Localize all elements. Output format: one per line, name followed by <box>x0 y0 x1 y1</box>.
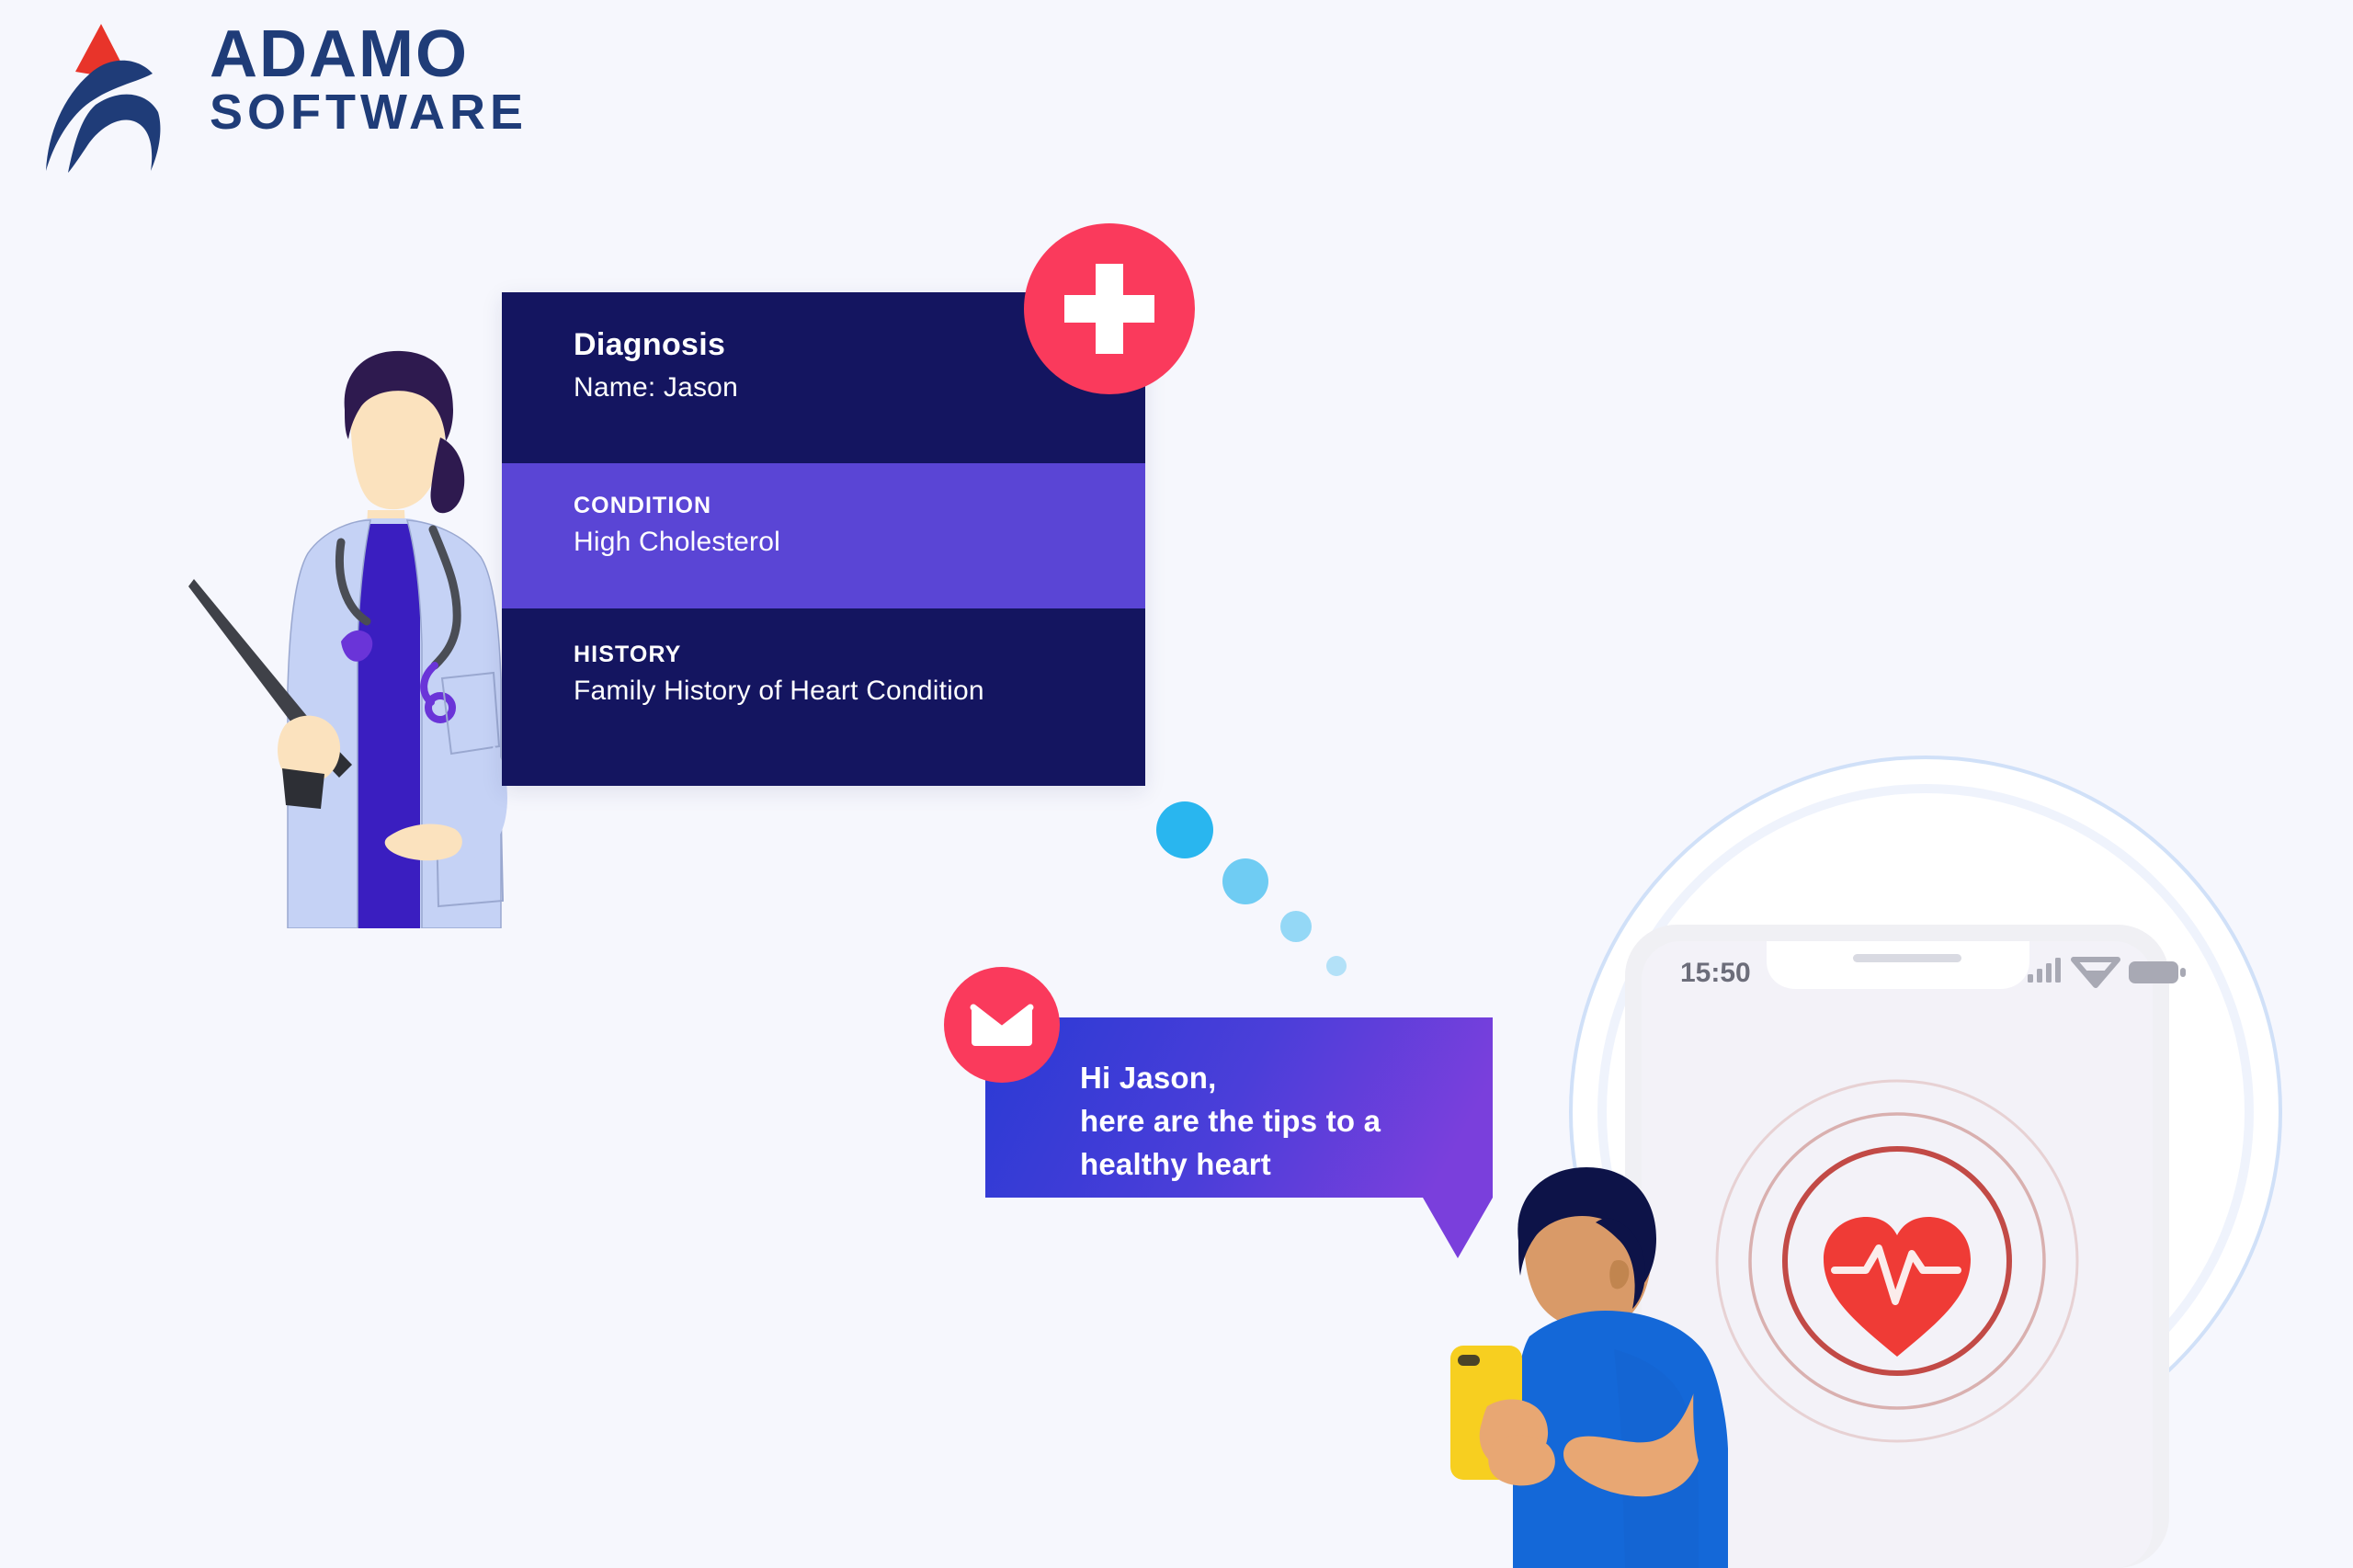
trail-dot <box>1326 956 1347 976</box>
battery-icon <box>2129 961 2186 983</box>
condition-label: CONDITION <box>574 493 1145 519</box>
condition-value: High Cholesterol <box>574 527 1145 558</box>
trail-dot <box>1222 858 1268 904</box>
message-badge <box>944 967 1060 1083</box>
pointer-handle-end <box>282 768 324 809</box>
medical-cross-badge <box>1024 223 1195 394</box>
illustration-canvas: ADAMO SOFTWARE <box>0 0 2353 1568</box>
adamo-arrow-logo-icon <box>35 17 182 173</box>
diagnosis-history-row: HISTORY Family History of Heart Conditio… <box>502 608 1145 786</box>
trail-dot <box>1156 801 1213 858</box>
history-label: HISTORY <box>574 642 1145 668</box>
phone-camera <box>1458 1355 1480 1366</box>
logo-wordmark: ADAMO SOFTWARE <box>210 24 528 136</box>
phone-status-time: 15:50 <box>1680 958 1751 988</box>
medical-cross-icon <box>1024 223 1195 394</box>
phone-speaker-grille <box>1853 954 1961 962</box>
logo-name-primary: ADAMO <box>210 24 528 85</box>
trail-dot <box>1280 911 1312 942</box>
history-value: Family History of Heart Condition <box>574 676 1145 707</box>
adamo-software-logo: ADAMO SOFTWARE <box>35 17 605 182</box>
logo-name-secondary: SOFTWARE <box>210 90 528 136</box>
man-illustration <box>1434 1165 1802 1568</box>
diagnosis-condition-row: CONDITION High Cholesterol <box>502 463 1145 608</box>
envelope-icon <box>944 967 1060 1083</box>
message-text: Hi Jason, here are the tips to a healthy… <box>1080 1057 1475 1187</box>
man-left-fingers <box>1488 1436 1555 1486</box>
phone-notch <box>1767 941 2029 989</box>
